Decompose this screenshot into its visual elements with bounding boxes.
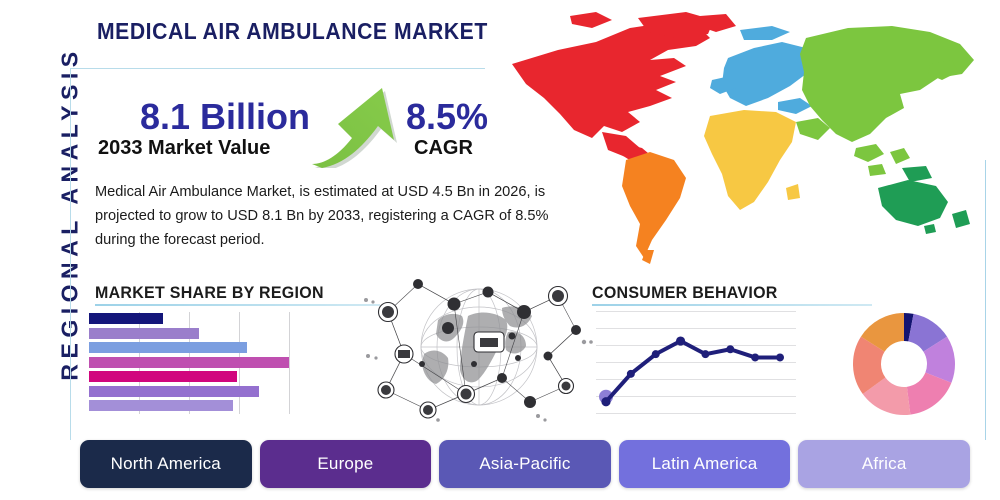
donut-segment <box>935 344 941 377</box>
map-region-africa <box>704 110 800 210</box>
bar-fill <box>89 313 163 324</box>
market-value-stat: 8.1 Billion <box>140 96 310 138</box>
consumer-behavior-line-chart <box>596 311 796 415</box>
region-tab-label: Latin America <box>652 454 758 474</box>
line-series <box>596 311 796 415</box>
donut-segment <box>873 327 904 344</box>
line-data-point <box>726 345 734 353</box>
bar-item <box>89 328 199 339</box>
region-tab-europe[interactable]: Europe <box>260 440 432 488</box>
bar-fill <box>89 371 237 382</box>
donut-segment <box>904 327 911 328</box>
panel-border-left <box>70 68 71 440</box>
consumer-behavior-donut-chart <box>852 312 956 416</box>
line-data-point <box>676 336 685 345</box>
region-tab-latin-america[interactable]: Latin America <box>619 440 791 488</box>
cagr-stat: 8.5% <box>406 96 488 138</box>
bar-fill <box>89 328 199 339</box>
line-data-point <box>776 353 784 361</box>
infographic-root: REGIONAL ANALYSIS MEDICAL AIR AMBULANCE … <box>0 0 1000 500</box>
region-tab-label: North America <box>111 454 221 474</box>
bar-item <box>89 400 233 411</box>
map-region-south-america <box>622 152 686 264</box>
page-title: MEDICAL AIR AMBULANCE MARKET <box>97 18 488 45</box>
bar-item <box>89 357 289 368</box>
map-region-oceania <box>878 166 970 234</box>
up-arrow-icon <box>308 86 404 168</box>
market-share-rule <box>95 304 380 306</box>
line-data-point <box>751 353 759 361</box>
map-region-asia <box>796 26 974 176</box>
bar-fill <box>89 357 289 368</box>
donut-segment <box>909 378 939 401</box>
region-tab-asia-pacific[interactable]: Asia-Pacific <box>439 440 611 488</box>
line-data-point <box>627 370 635 378</box>
region-tab-label: Africa <box>862 454 907 474</box>
bar-fill <box>89 386 259 397</box>
bar-gridline <box>289 312 290 414</box>
map-region-north-america <box>512 12 736 164</box>
bar-item <box>89 386 259 397</box>
line-data-point <box>601 397 610 406</box>
map-region-europe <box>710 26 816 114</box>
line-data-point <box>652 350 660 358</box>
bar-item <box>89 342 247 353</box>
donut-segment <box>911 328 935 345</box>
consumer-behavior-rule <box>592 304 872 306</box>
consumer-behavior-heading: CONSUMER BEHAVIOR <box>592 283 778 303</box>
market-value-label: 2033 Market Value <box>98 137 270 160</box>
line-data-point <box>701 350 709 358</box>
donut-segment <box>874 386 909 401</box>
cagr-label: CAGR <box>414 137 473 160</box>
region-tab-africa[interactable]: Africa <box>798 440 970 488</box>
bar-item <box>89 313 163 324</box>
donut-segment <box>867 344 874 386</box>
market-share-bar-chart <box>89 312 289 414</box>
world-map-graphic <box>500 2 990 270</box>
market-share-heading: MARKET SHARE BY REGION <box>95 283 324 303</box>
bar-item <box>89 371 237 382</box>
globe-network-icon <box>362 268 596 426</box>
region-tab-north-america[interactable]: North America <box>80 440 252 488</box>
bar-fill <box>89 342 247 353</box>
region-tab-label: Europe <box>317 454 373 474</box>
region-tab-label: Asia-Pacific <box>479 454 570 474</box>
bar-fill <box>89 400 233 411</box>
panel-border-top <box>70 68 485 69</box>
region-tabs[interactable]: North AmericaEuropeAsia-PacificLatin Ame… <box>80 440 970 488</box>
